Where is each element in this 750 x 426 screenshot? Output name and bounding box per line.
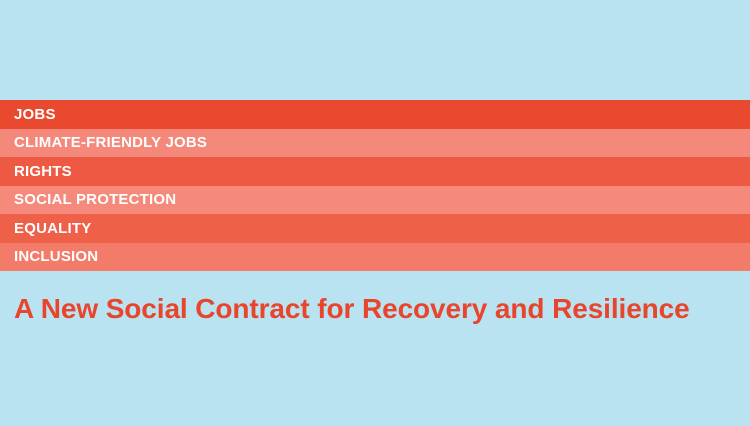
pillar-label: EQUALITY [14,221,91,236]
pillar-label: CLIMATE-FRIENDLY JOBS [14,135,207,150]
pillar-bar-inclusion: INCLUSION [0,243,750,272]
page-title: A New Social Contract for Recovery and R… [14,292,736,326]
pillar-bar-social-protection: SOCIAL PROTECTION [0,186,750,215]
pillar-bar-rights: RIGHTS [0,157,750,186]
pillar-bar-equality: EQUALITY [0,214,750,243]
poster-canvas: JOBS CLIMATE-FRIENDLY JOBS RIGHTS SOCIAL… [0,0,750,426]
pillar-bar-jobs: JOBS [0,100,750,129]
pillar-bar-stack: JOBS CLIMATE-FRIENDLY JOBS RIGHTS SOCIAL… [0,100,750,271]
pillar-label: JOBS [14,107,56,122]
pillar-label: SOCIAL PROTECTION [14,192,176,207]
pillar-label: INCLUSION [14,249,98,264]
pillar-label: RIGHTS [14,164,72,179]
pillar-bar-climate-friendly-jobs: CLIMATE-FRIENDLY JOBS [0,129,750,158]
